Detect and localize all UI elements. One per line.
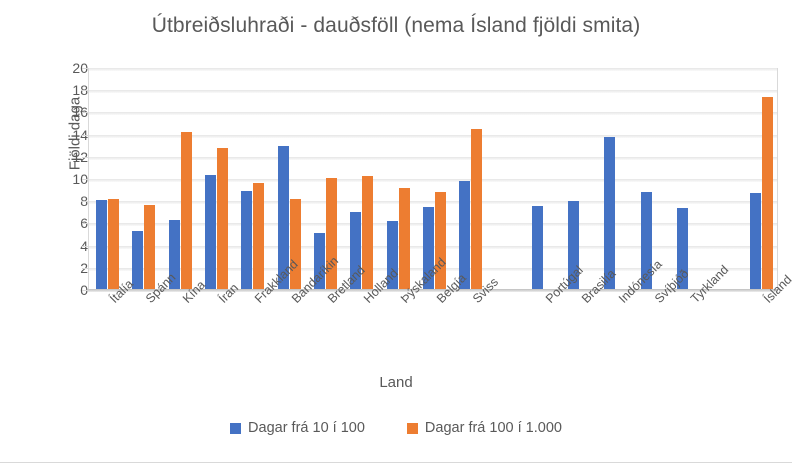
legend-label: Dagar frá 10 í 100	[248, 420, 365, 436]
bar[interactable]	[762, 97, 773, 290]
bottom-divider	[0, 462, 792, 463]
bar-group	[634, 69, 670, 290]
bar[interactable]	[96, 200, 107, 290]
bar[interactable]	[181, 132, 192, 290]
bar-group	[343, 69, 379, 290]
legend-label: Dagar frá 100 í 1.000	[425, 420, 562, 436]
bar[interactable]	[144, 205, 155, 290]
bar[interactable]	[241, 191, 252, 290]
bar[interactable]	[532, 206, 543, 290]
bar[interactable]	[253, 183, 264, 290]
bar-group	[89, 69, 125, 290]
legend-entry[interactable]: Dagar frá 10 í 100	[230, 420, 365, 436]
bar-group	[597, 69, 633, 290]
bar-group	[488, 69, 524, 290]
bar[interactable]	[132, 231, 143, 290]
bar-group	[706, 69, 742, 290]
plot-area	[88, 68, 778, 290]
bar[interactable]	[217, 148, 228, 290]
bar-group	[416, 69, 452, 290]
bar-group	[271, 69, 307, 290]
bar[interactable]	[471, 129, 482, 290]
legend-swatch-icon	[230, 423, 241, 434]
chart-title: Útbreiðsluhraði - dauðsföll (nema Ísland…	[0, 14, 792, 38]
bar-group	[670, 69, 706, 290]
bar-group	[198, 69, 234, 290]
chart-container: Útbreiðsluhraði - dauðsföll (nema Ísland…	[0, 0, 792, 474]
bar-group	[162, 69, 198, 290]
bar-group	[125, 69, 161, 290]
x-axis-title: Land	[0, 374, 792, 391]
legend-entry[interactable]: Dagar frá 100 í 1.000	[407, 420, 562, 436]
bar-group	[234, 69, 270, 290]
bar[interactable]	[108, 199, 119, 290]
bar[interactable]	[750, 193, 761, 290]
bar-group	[380, 69, 416, 290]
chart-legend: Dagar frá 10 í 100Dagar frá 100 í 1.000	[0, 420, 792, 436]
legend-swatch-icon	[407, 423, 418, 434]
bar-group	[452, 69, 488, 290]
bar-group	[743, 69, 779, 290]
bar-group	[525, 69, 561, 290]
bar[interactable]	[205, 175, 216, 290]
bar-group	[561, 69, 597, 290]
bar-group	[307, 69, 343, 290]
